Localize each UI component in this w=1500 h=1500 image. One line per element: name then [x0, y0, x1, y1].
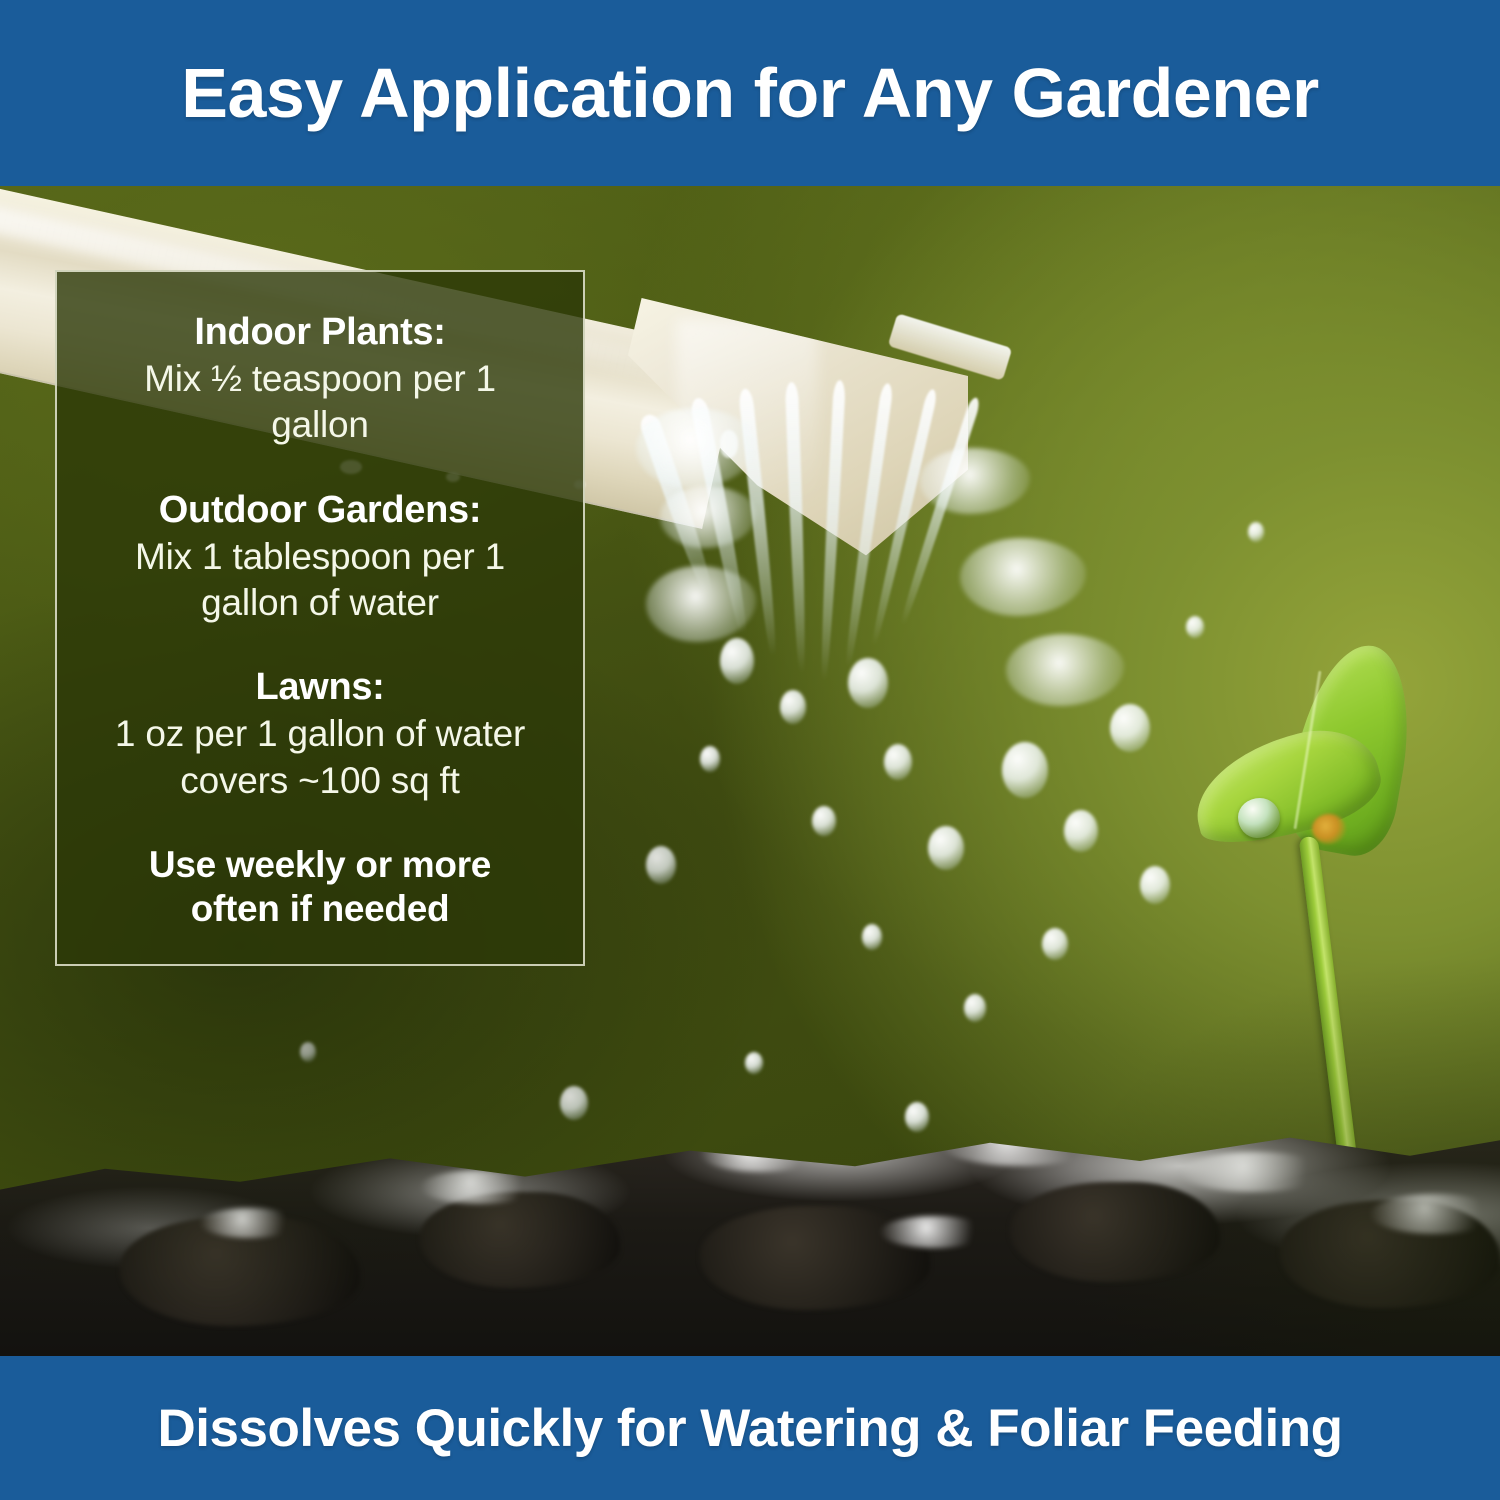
soil-highlight — [200, 1208, 300, 1238]
footer-title: Dissolves Quickly for Watering & Foliar … — [158, 1398, 1343, 1459]
spout-water-bead — [720, 430, 738, 458]
dosage-line: Mix ½ teaspoon per 1 — [79, 357, 561, 401]
dosage-panel: Indoor Plants: Mix ½ teaspoon per 1 gall… — [55, 270, 585, 966]
dosage-note-line: Use weekly or more — [79, 843, 561, 887]
dosage-frequency-note: Use weekly or more often if needed — [79, 843, 561, 932]
water-droplet — [560, 1086, 588, 1120]
soil-highlight — [940, 1122, 1100, 1166]
water-droplet — [905, 1102, 929, 1132]
dosage-group-indoor: Indoor Plants: Mix ½ teaspoon per 1 gall… — [79, 310, 561, 448]
soil-highlight — [700, 1136, 820, 1172]
water-droplet — [1140, 866, 1170, 904]
water-droplet — [848, 658, 888, 708]
dosage-group-lawns: Lawns: 1 oz per 1 gallon of water covers… — [79, 665, 561, 803]
water-droplet — [646, 846, 676, 884]
dosage-line: Mix 1 tablespoon per 1 — [79, 535, 561, 579]
dosage-line: 1 oz per 1 gallon of water — [79, 712, 561, 756]
soil-highlight — [1370, 1194, 1500, 1234]
dosage-title: Outdoor Gardens: — [79, 488, 561, 533]
water-droplet — [812, 806, 836, 836]
water-droplet — [720, 638, 754, 684]
water-splash — [1006, 634, 1124, 706]
water-droplet — [700, 746, 720, 772]
product-infographic: Easy Application for Any Gardener — [0, 0, 1500, 1500]
soil-highlight — [880, 1216, 990, 1248]
dosage-line: covers ~100 sq ft — [79, 759, 561, 803]
soil-highlight — [420, 1170, 540, 1204]
dosage-line: gallon of water — [79, 581, 561, 625]
water-droplet — [928, 826, 964, 870]
water-droplet — [884, 744, 912, 780]
footer-banner: Dissolves Quickly for Watering & Foliar … — [0, 1356, 1500, 1500]
water-droplet — [780, 690, 806, 724]
header-banner: Easy Application for Any Gardener — [0, 0, 1500, 186]
seedling-node — [1312, 814, 1346, 844]
dosage-line: gallon — [79, 403, 561, 447]
water-droplet — [1042, 928, 1068, 960]
seedling-stem — [1299, 836, 1361, 1185]
water-droplet — [1248, 522, 1264, 542]
water-droplet — [1064, 810, 1098, 852]
soil-clump — [420, 1192, 620, 1288]
soil-clump — [1010, 1182, 1220, 1282]
water-droplet — [964, 994, 986, 1022]
dosage-title: Lawns: — [79, 665, 561, 710]
water-droplet — [745, 1052, 763, 1074]
dosage-group-outdoor: Outdoor Gardens: Mix 1 tablespoon per 1 … — [79, 488, 561, 626]
water-droplet — [1110, 704, 1150, 752]
seedling-sprout — [1180, 626, 1500, 1186]
dosage-note-line: often if needed — [79, 887, 561, 931]
water-droplet — [862, 924, 882, 950]
dosage-title: Indoor Plants: — [79, 310, 561, 355]
soil-highlight — [1180, 1152, 1330, 1192]
header-title: Easy Application for Any Gardener — [181, 53, 1318, 133]
water-droplet — [1002, 742, 1048, 798]
water-droplet — [300, 1042, 316, 1062]
